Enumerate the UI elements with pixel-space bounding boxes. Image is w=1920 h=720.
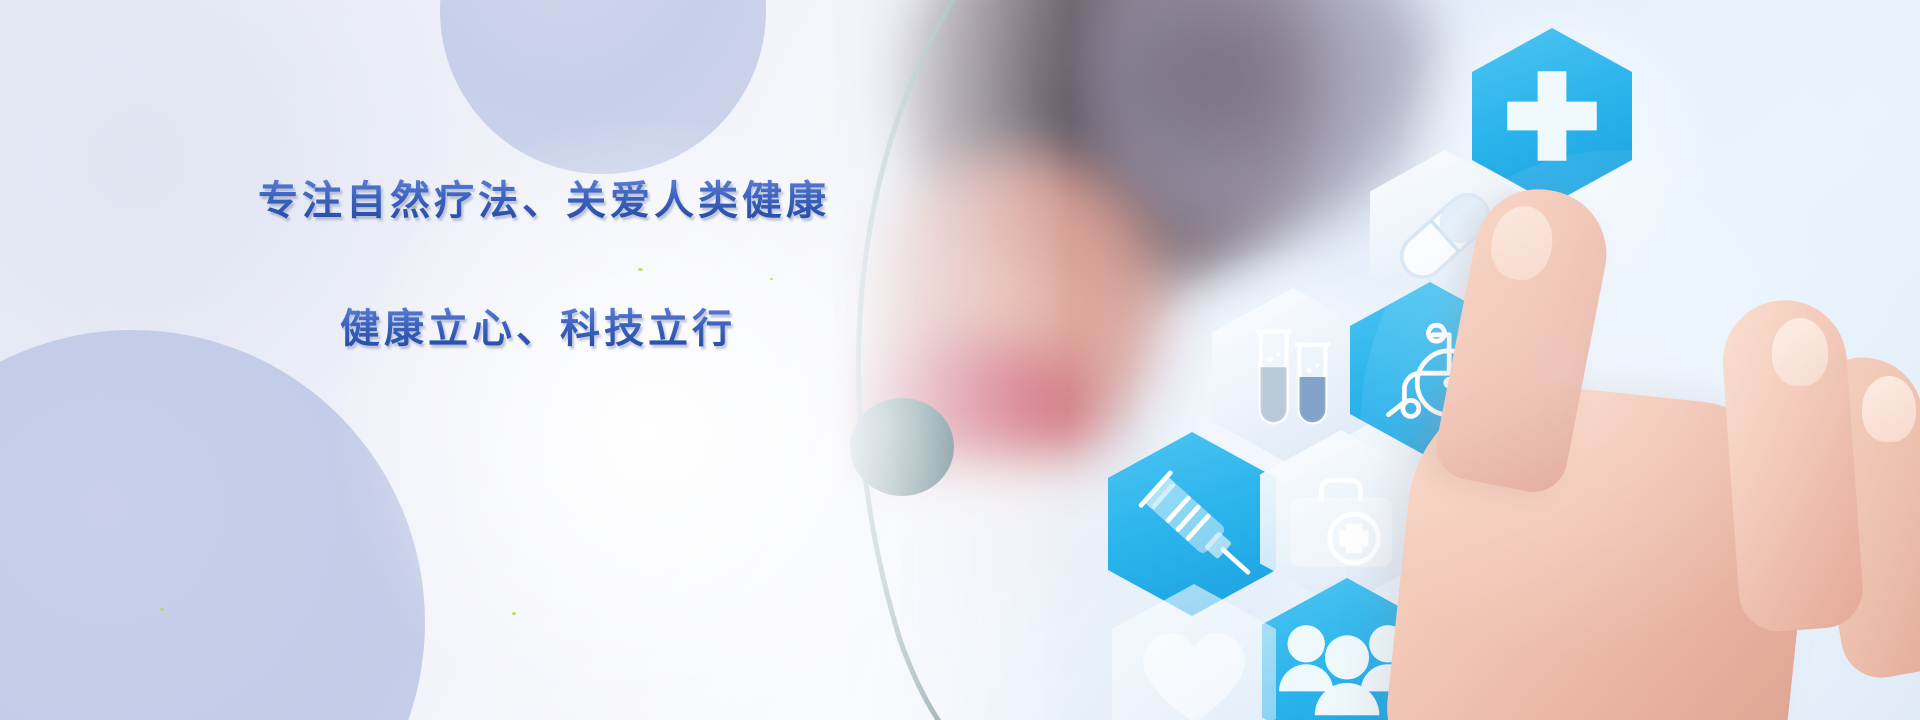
hero-banner: 专注自然疗法、关爱人类健康 健康立心、科技立行 (0, 0, 1920, 720)
hero-image-panel (830, 0, 1920, 720)
headline-line-2: 健康立心、科技立行 (258, 304, 898, 354)
accent-dot-icon (512, 612, 516, 615)
accent-dot-icon (160, 608, 164, 611)
teal-circle-node (850, 398, 954, 496)
heart-care-icon (1112, 584, 1276, 720)
headline-block: 专注自然疗法、关爱人类健康 健康立心、科技立行 (258, 176, 898, 354)
hand-fingernail (1772, 318, 1828, 386)
headline-line-1: 专注自然疗法、关爱人类健康 (258, 176, 898, 226)
hand-fingernail (1862, 376, 1916, 442)
hex-heart-care-icon[interactable] (1112, 584, 1276, 720)
